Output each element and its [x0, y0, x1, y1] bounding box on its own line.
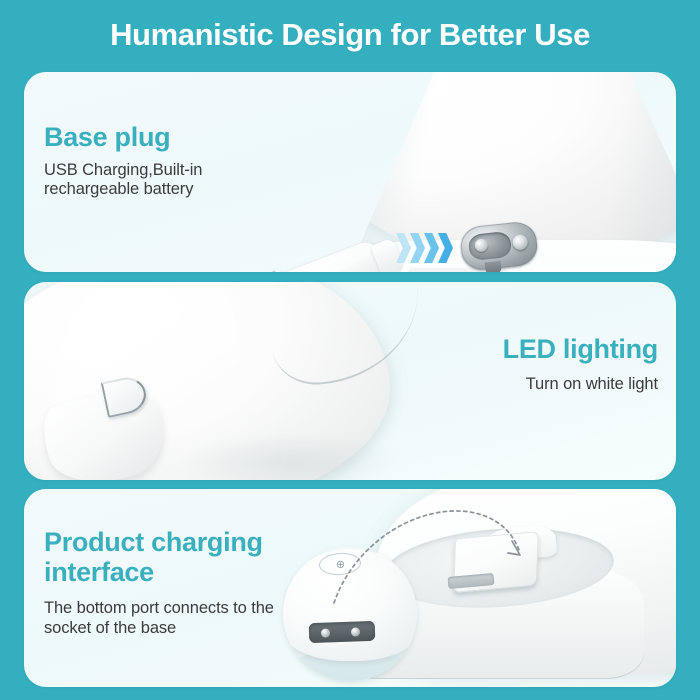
panel-2-heading: LED lighting — [358, 334, 658, 364]
usb-plug-connector — [262, 237, 391, 272]
panel-3-heading: Product charging interface — [44, 527, 314, 587]
device-bottom-port-slot — [309, 621, 376, 643]
page-title: Humanistic Design for Better Use — [110, 17, 590, 53]
usb-cable-ribbed — [200, 268, 295, 272]
port-screw-icon — [512, 234, 528, 250]
dashed-curved-arrow — [330, 498, 550, 608]
feature-panel-base-plug: Base plug USB Charging,Built-in recharge… — [24, 72, 676, 272]
cable-rib-texture — [200, 268, 295, 272]
header-title-bar: Humanistic Design for Better Use — [0, 0, 700, 70]
arrow-dashed-path — [334, 511, 519, 603]
contact-pin-icon-1 — [321, 628, 330, 637]
panel-1-text-block: Base plug USB Charging,Built-in recharge… — [44, 122, 294, 199]
plug-gloss-highlight — [274, 251, 359, 272]
panel-3-text-block: Product charging interface The bottom po… — [44, 527, 314, 638]
panel-1-heading: Base plug — [44, 122, 294, 152]
feature-panel-led-lighting: LED lighting Turn on white light — [24, 282, 676, 480]
panel-2-text-block: LED lighting Turn on white light — [358, 334, 658, 394]
port-notch — [485, 261, 502, 272]
panel-2-subtext: Turn on white light — [358, 375, 658, 394]
contact-pin-icon-2 — [351, 627, 360, 636]
panel-1-subtext: USB Charging,Built-in rechargeable batte… — [44, 161, 294, 199]
panel-3-subtext: The bottom port connects to the socket o… — [44, 599, 314, 637]
